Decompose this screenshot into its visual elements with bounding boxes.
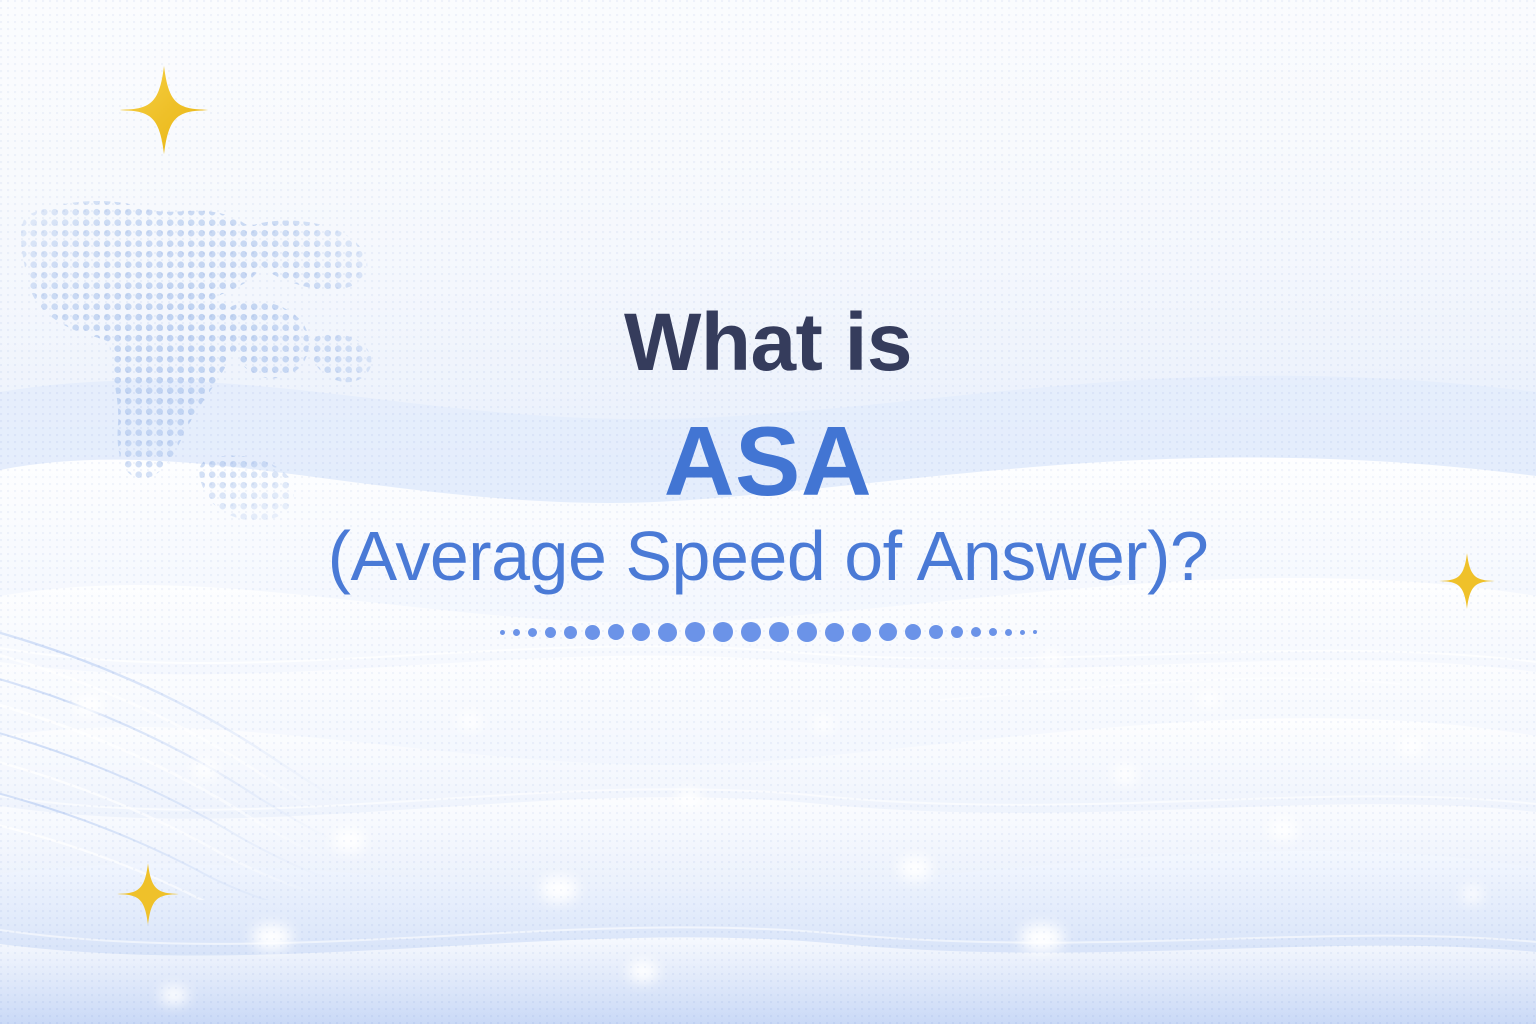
divider-dot-20 (951, 626, 963, 638)
divider-dot-6 (585, 625, 600, 640)
divider-dot-2 (513, 629, 520, 636)
divider-dot-5 (564, 626, 577, 639)
divider-dot-18 (905, 624, 921, 640)
title-acronym-asa: ASA (0, 412, 1536, 510)
divider-dot-25 (1033, 630, 1037, 634)
divider-dot-10 (685, 622, 705, 642)
divider-dot-4 (545, 627, 556, 638)
title-subtitle-expansion: (Average Speed of Answer)? (0, 521, 1536, 591)
sparkle-bottom-left-icon (116, 862, 180, 926)
divider-dot-22 (989, 628, 997, 636)
divider-dot-11 (713, 622, 733, 642)
divider-dot-3 (528, 628, 537, 637)
slide-canvas: What is ASA (Average Speed of Answer)? (0, 0, 1536, 1024)
divider-dot-8 (632, 623, 650, 641)
divider-dot-9 (658, 623, 677, 642)
divider-dot-13 (769, 622, 789, 642)
divider-dot-7 (608, 624, 624, 640)
divider-dot-17 (879, 623, 897, 641)
divider-dot-24 (1020, 630, 1025, 635)
divider-dot-23 (1005, 629, 1012, 636)
divider-dot-21 (971, 627, 981, 637)
divider-dot-15 (825, 623, 844, 642)
sparkle-top-left-icon (118, 64, 210, 156)
title-line-what-is: What is (0, 302, 1536, 384)
divider-dot-14 (797, 622, 817, 642)
divider-dot-12 (741, 622, 761, 642)
flowing-arc-lines (0, 560, 440, 900)
dotted-divider (0, 620, 1536, 644)
divider-dot-1 (500, 630, 505, 635)
divider-dot-16 (852, 623, 871, 642)
divider-dot-19 (929, 625, 943, 639)
